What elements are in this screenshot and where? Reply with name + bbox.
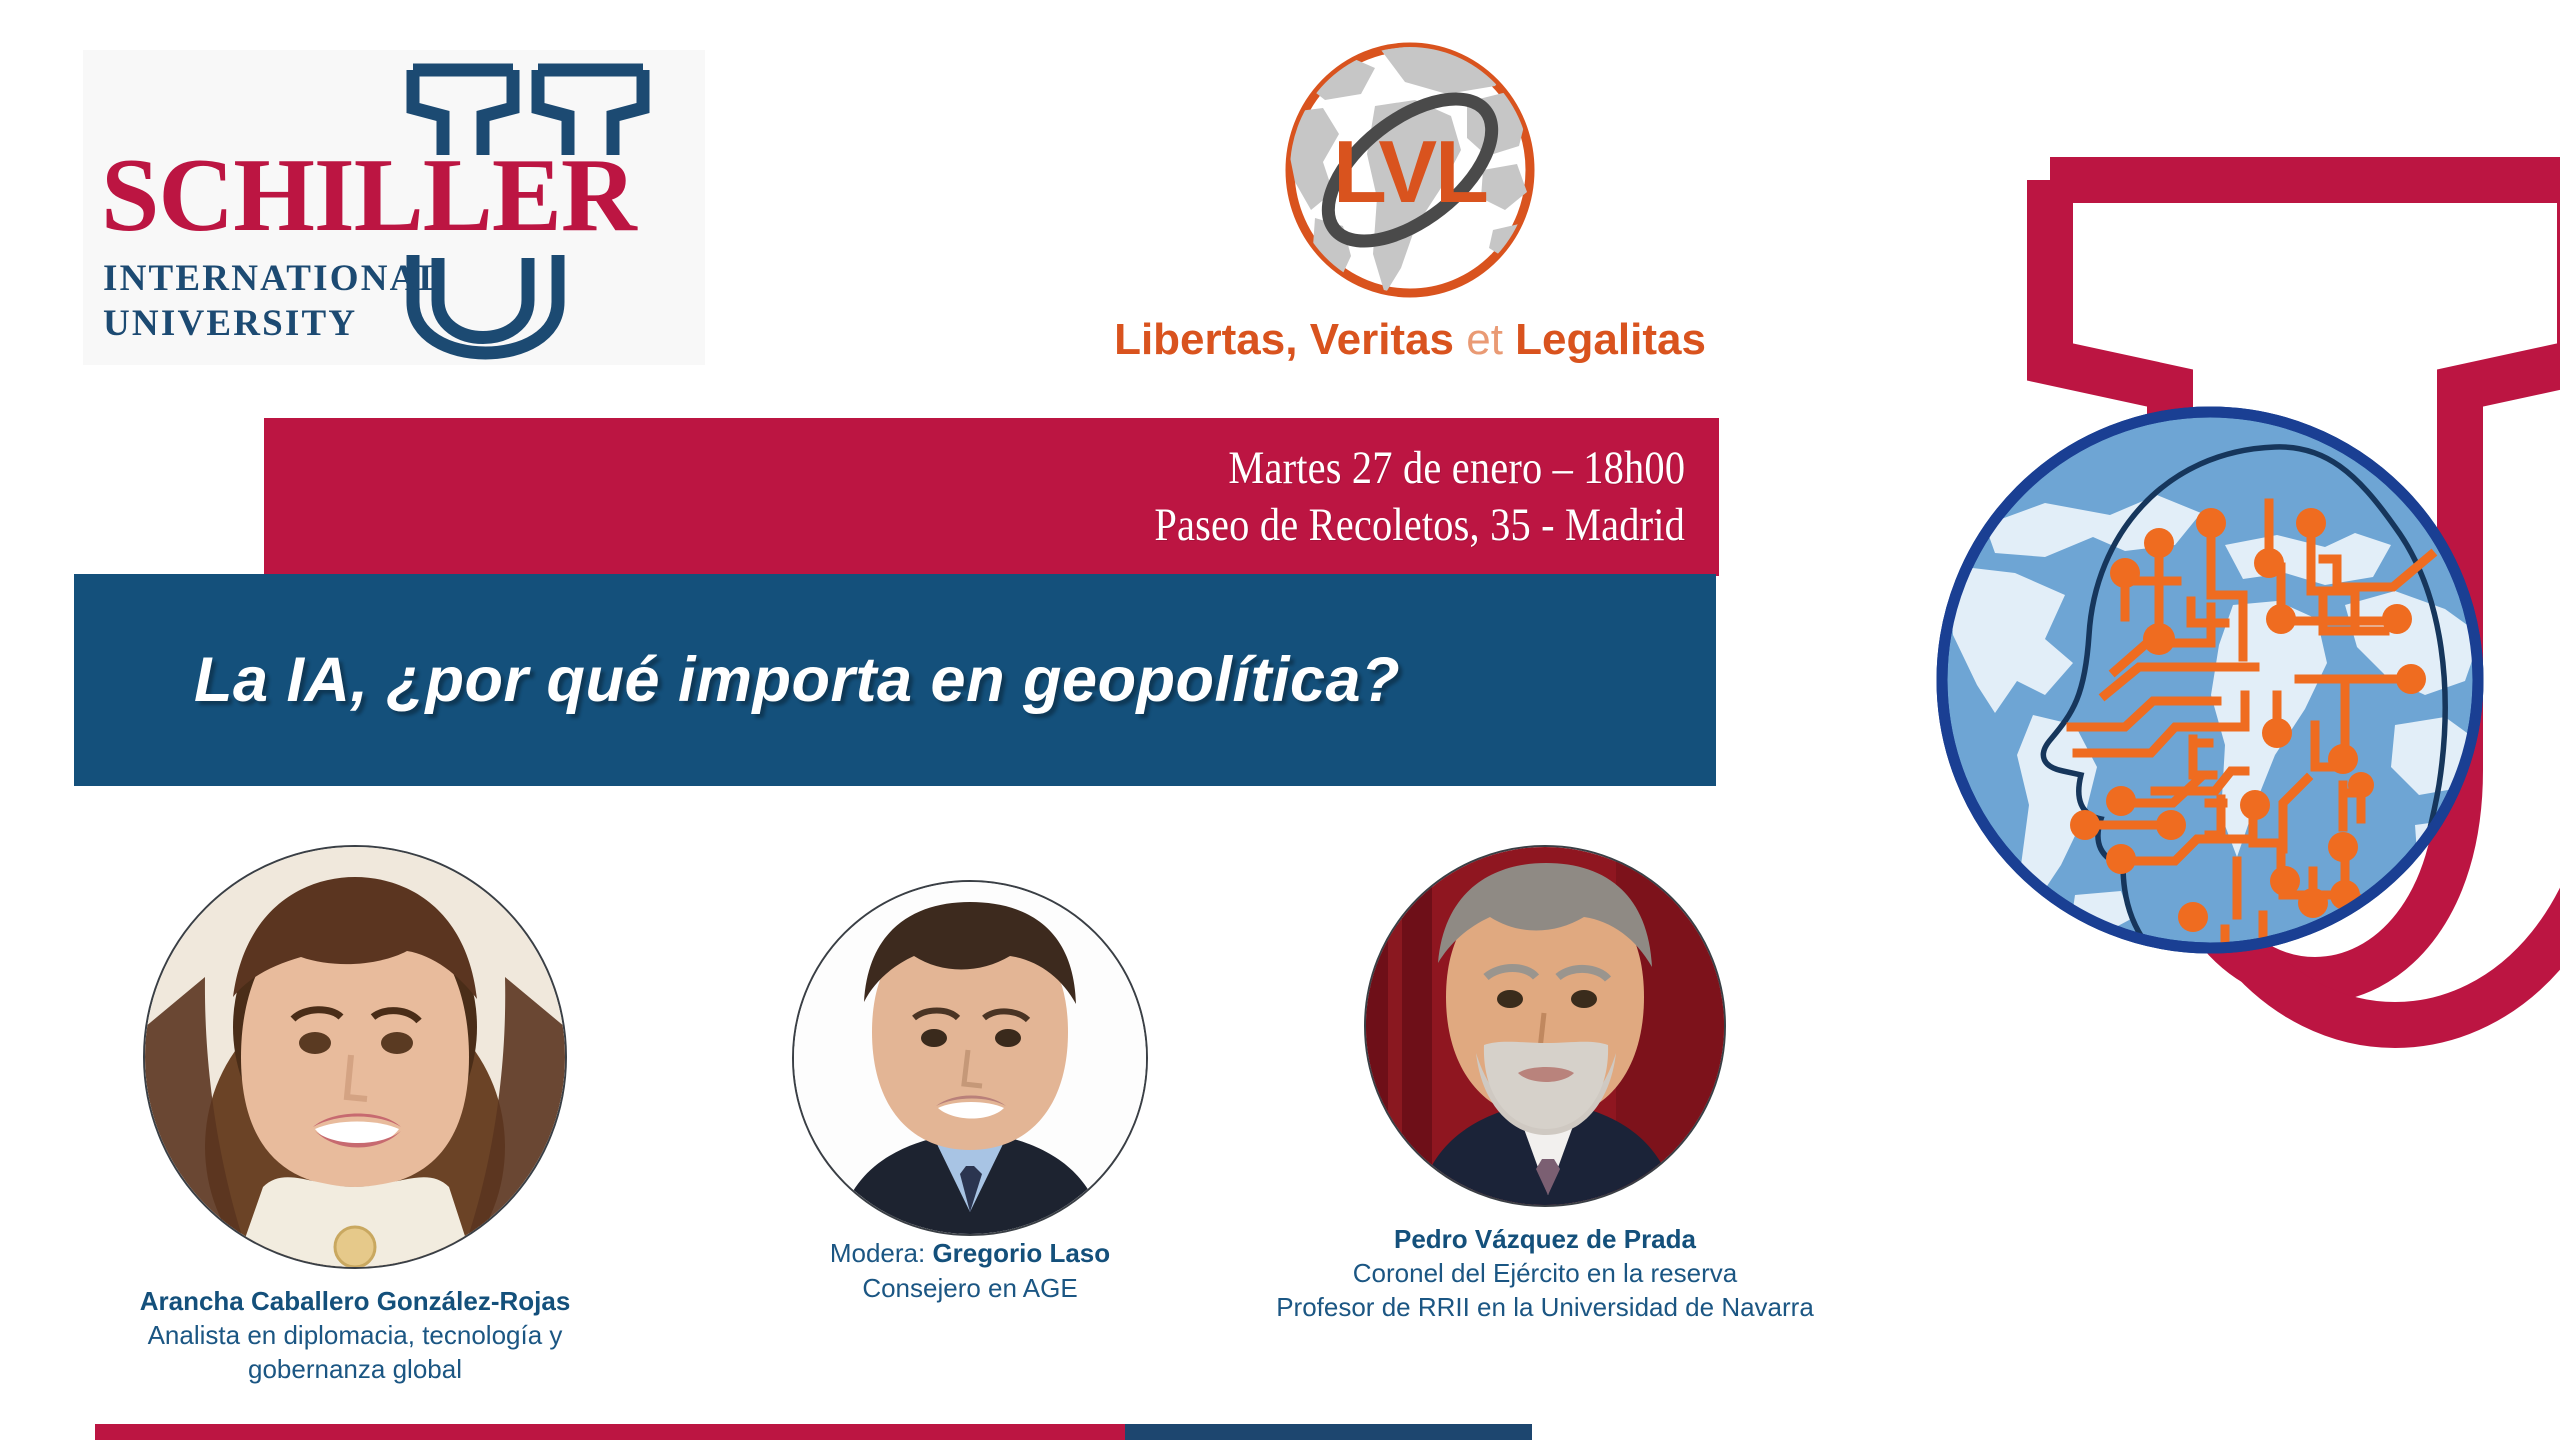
moderator-prefix: Modera: — [830, 1238, 933, 1268]
event-date-banner: Martes 27 de enero – 18h00 Paseo de Reco… — [264, 418, 1719, 576]
svg-text:UNIVERSITY: UNIVERSITY — [103, 303, 357, 344]
speaker-1-name: Arancha Caballero González-Rojas — [40, 1285, 670, 1319]
avatar-speaker-3 — [1364, 845, 1726, 1207]
schiller-logo: SCHILLER INTERNATIONAL UNIVERSITY — [83, 50, 705, 365]
event-venue: Paseo de Recoletos, 35 - Madrid — [1154, 497, 1685, 554]
moderator-line: Modera: Gregorio Laso — [660, 1236, 1280, 1271]
lvl-logo: LVL Libertas, Veritas et Legalitas — [1075, 42, 1745, 372]
bottom-accent-bar — [95, 1424, 1532, 1440]
avatar-speaker-2 — [792, 880, 1148, 1236]
svg-text:SCHILLER: SCHILLER — [101, 136, 638, 253]
bottom-bar-crimson-segment — [95, 1424, 1125, 1440]
event-title-banner: La IA, ¿por qué importa en geopolítica? — [74, 574, 1716, 786]
moderator-name: Gregorio Laso — [932, 1238, 1110, 1268]
svg-text:Libertas, Veritas et Legalitas: Libertas, Veritas et Legalitas — [1114, 315, 1706, 364]
speaker-1-role-line2: gobernanza global — [40, 1353, 670, 1387]
speaker-3-name: Pedro Vázquez de Prada — [1215, 1223, 1875, 1257]
speaker-1-role-line1: Analista en diplomacia, tecnología y — [40, 1319, 670, 1353]
speaker-card-1: Arancha Caballero González-Rojas Analist… — [40, 845, 670, 1386]
globe-ai-brain-graphic — [1925, 395, 2495, 965]
svg-text:LVL: LVL — [1333, 122, 1487, 221]
speaker-card-3: Pedro Vázquez de Prada Coronel del Ejérc… — [1215, 845, 1875, 1324]
speaker-3-role-line2: Profesor de RRII en la Universidad de Na… — [1215, 1291, 1875, 1325]
moderator-role: Consejero en AGE — [660, 1271, 1280, 1306]
poster-canvas: SCHILLER INTERNATIONAL UNIVERSITY — [0, 0, 2560, 1440]
speaker-card-2: Modera: Gregorio Laso Consejero en AGE — [660, 880, 1280, 1306]
svg-text:INTERNATIONAL: INTERNATIONAL — [103, 258, 445, 299]
speaker-3-role-line1: Coronel del Ejército en la reserva — [1215, 1257, 1875, 1291]
event-date: Martes 27 de enero – 18h00 — [1228, 440, 1685, 497]
page-title: La IA, ¿por qué importa en geopolítica? — [194, 644, 1400, 716]
bottom-bar-navy-segment — [1125, 1424, 1532, 1440]
avatar-speaker-1 — [143, 845, 567, 1269]
